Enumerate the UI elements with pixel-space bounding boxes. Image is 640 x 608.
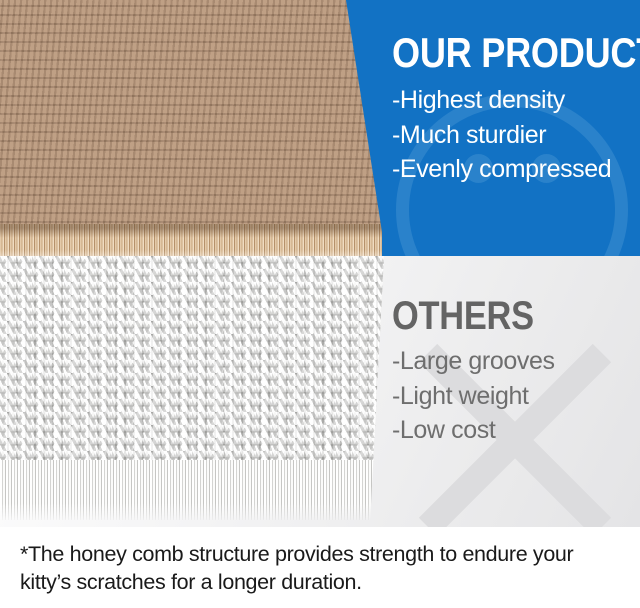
others-heading: OTHERS [392, 296, 602, 336]
others-bullet-list: -Large grooves -Light weight -Low cost [392, 344, 636, 448]
white-corrugated-surface [0, 256, 384, 462]
others-bullet-2: -Light weight [392, 379, 636, 414]
others-bullet-3: -Low cost [392, 413, 636, 448]
product-comparison-infographic: OUR PRODUCT -Highest density -Much sturd… [0, 0, 640, 608]
others-copy-block: OTHERS -Large grooves -Light weight -Low… [392, 296, 636, 448]
footnote-bar: *The honey comb structure provides stren… [0, 527, 640, 608]
others-section: OTHERS -Large grooves -Light weight -Low… [0, 256, 640, 527]
white-corrugated-panel-image [0, 256, 384, 524]
our-product-heading: OUR PRODUCT [392, 32, 602, 74]
brown-honeycomb-surface [0, 0, 382, 226]
brown-honeycomb-panel-image [0, 0, 382, 256]
our-product-bullet-1: -Highest density [392, 83, 636, 118]
our-product-bullet-2: -Much sturdier [392, 118, 636, 153]
others-bullet-1: -Large grooves [392, 344, 636, 379]
brown-panel-edge-fringe [0, 224, 382, 256]
our-product-bullet-list: -Highest density -Much sturdier -Evenly … [392, 83, 636, 187]
our-product-copy-block: OUR PRODUCT -Highest density -Much sturd… [392, 32, 636, 187]
our-product-section: OUR PRODUCT -Highest density -Much sturd… [0, 0, 640, 256]
white-panel-edge-fringe [0, 460, 384, 520]
footnote-text: *The honey comb structure provides stren… [0, 527, 640, 596]
our-product-bullet-3: -Evenly compressed [392, 152, 636, 187]
